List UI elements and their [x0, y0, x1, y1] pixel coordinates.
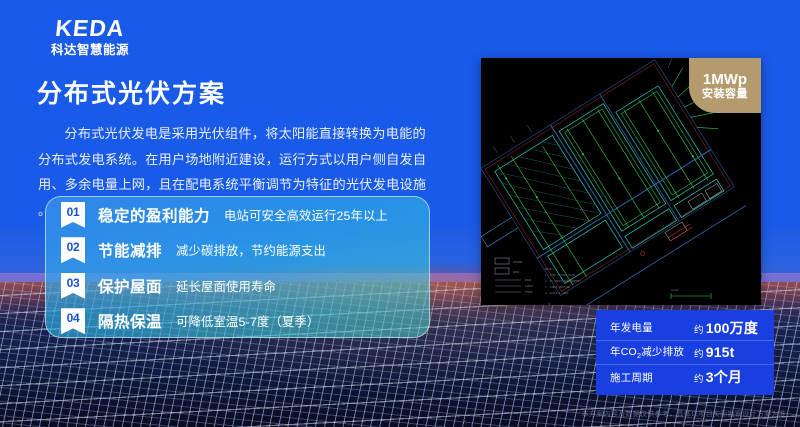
feature-list-panel: 01 稳定的盈利能力 电站可安全高效运行25年以上 02 节能减排 减少碳排放，…: [45, 196, 430, 338]
footer-disclaimer: 本方案内容及数据仅供参考，具体以项目实际勘察设计方案为准: [582, 409, 786, 419]
page-title: 分布式光伏方案: [37, 74, 226, 110]
feature-description: 电站可安全高效运行25年以上: [224, 206, 388, 224]
table-row: 年发电量 约100万度: [596, 316, 774, 341]
feature-number: 04: [67, 311, 80, 325]
feature-number-badge: 03: [61, 273, 85, 299]
svg-text:FENCE: FENCE: [525, 290, 533, 294]
capacity-label: 安装容量: [702, 89, 748, 100]
stat-approx: 约: [694, 325, 704, 336]
stat-label-post: 减少排放: [641, 346, 684, 358]
stat-label-pre: 年CO: [610, 346, 637, 358]
feature-description: 减少碳排放，节约能源支出: [176, 241, 326, 259]
feature-number-badge: 04: [61, 308, 85, 334]
svg-text:CABLE: CABLE: [525, 284, 533, 288]
feature-description: 延长屋面使用寿命: [176, 277, 276, 295]
feature-title: 保护屋面: [98, 275, 162, 297]
feature-title: 节能减排: [98, 239, 162, 261]
table-row: 施工周期 约3个月: [596, 365, 774, 390]
feature-row[interactable]: 03 保护屋面 延长屋面使用寿命: [46, 268, 429, 304]
brand-logo-name: 科达智慧能源: [30, 44, 150, 57]
stat-label: 施工周期: [610, 370, 694, 385]
feature-row[interactable]: 02 节能减排 减少碳排放，节约能源支出: [46, 233, 429, 269]
svg-text:LEGEND: LEGEND: [513, 260, 523, 264]
stat-number: 100万度: [706, 320, 758, 336]
stats-table: 年发电量 约100万度 年CO2减少排放 约915t 施工周期 约3个月: [596, 310, 774, 395]
feature-title: 隔热保温: [98, 310, 162, 332]
svg-text:NOTES:: NOTES:: [545, 267, 554, 271]
feature-title: 稳定的盈利能力: [98, 204, 210, 226]
svg-text:ROAD: ROAD: [525, 278, 532, 282]
stat-label: 年发电量: [610, 320, 694, 335]
feature-row[interactable]: 04 隔热保温 可降低室温5-7度（夏季）: [46, 304, 429, 339]
feature-number: 02: [67, 240, 80, 254]
stat-value: 约915t: [694, 344, 735, 360]
feature-number: 03: [67, 276, 80, 290]
stat-number: 915t: [706, 344, 735, 360]
stat-label: 年CO2减少排放: [610, 344, 694, 360]
feature-row[interactable]: 01 稳定的盈利能力 电站可安全高效运行25年以上: [46, 197, 429, 233]
svg-text:3. CABLE ROUTING: 3. CABLE ROUTING: [545, 285, 570, 289]
brand-logo: KEDA 科达智慧能源: [30, 17, 150, 57]
feature-number-badge: 01: [61, 202, 85, 228]
stat-approx: 约: [694, 349, 704, 360]
capacity-value: 1MWp: [703, 72, 747, 87]
feature-number-badge: 02: [61, 237, 85, 263]
svg-text:1. SITE LAYOUT PLAN: 1. SITE LAYOUT PLAN: [545, 273, 575, 277]
stat-value: 约3个月: [694, 367, 742, 387]
svg-text:2. PV ARRAY ARRANGEMENT: 2. PV ARRAY ARRANGEMENT: [545, 279, 581, 283]
feature-number: 01: [67, 205, 80, 219]
svg-text:SCALE: SCALE: [671, 288, 679, 292]
capacity-badge: 1MWp 安装容量: [689, 58, 761, 113]
svg-text:4. SCALE 1:1000: 4. SCALE 1:1000: [545, 291, 569, 295]
svg-text:AREA: AREA: [513, 270, 520, 274]
feature-description: 可降低室温5-7度（夏季）: [176, 312, 319, 330]
brand-logo-mark: KEDA: [29, 17, 151, 40]
stat-value: 约100万度: [694, 318, 758, 338]
stat-number: 3个月: [706, 369, 742, 385]
stat-approx: 约: [694, 374, 704, 385]
table-row: 年CO2减少排放 约915t: [596, 341, 774, 366]
cad-site-plan[interactable]: LEGEND AREA ROAD CABLE FENCE NOTES: 1. S…: [481, 58, 761, 305]
